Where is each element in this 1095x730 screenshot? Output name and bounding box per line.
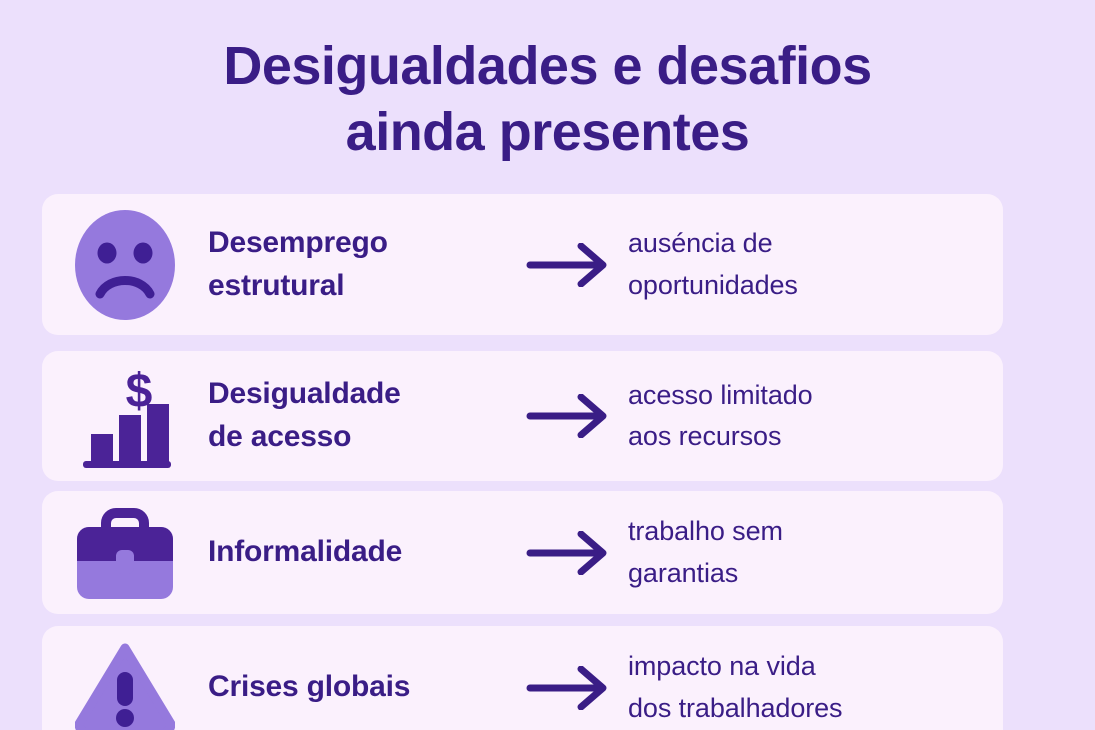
list-item: $ Desigualdade de acesso acesso limitado… [42,351,1003,481]
list-item-result: auséncia de oportunidades [628,223,1003,305]
sad-face-icon [42,209,208,321]
bar-chart-dollar-icon: $ [42,363,208,469]
list-item: Crises globais impacto na vida dos traba… [42,626,1003,730]
right-arrow-icon [508,394,628,438]
list-item-result: trabalho sem garantias [628,511,1003,593]
list-item: Desemprego estrutural auséncia de oportu… [42,194,1003,335]
right-arrow-icon [508,531,628,575]
list-item-label: Desigualdade de acesso [208,373,508,458]
list-item-label: Desemprego estrutural [208,222,508,307]
list-item-label: Informalidade [208,531,508,574]
list-item-result: impacto na vida dos trabalhadores [628,646,1003,728]
briefcase-icon [42,503,208,603]
right-arrow-icon [508,666,628,710]
list-item-result: acesso limitado aos recursos [628,375,1003,457]
list-item-label: Crises globais [208,666,508,709]
list-item: Informalidade trabalho sem garantias [42,491,1003,614]
right-arrow-icon [508,243,628,287]
page-title: Desigualdades e desafios ainda presentes [0,34,1095,166]
warning-triangle-icon [42,642,208,730]
infographic-page: Desigualdades e desafios ainda presentes… [0,0,1095,730]
